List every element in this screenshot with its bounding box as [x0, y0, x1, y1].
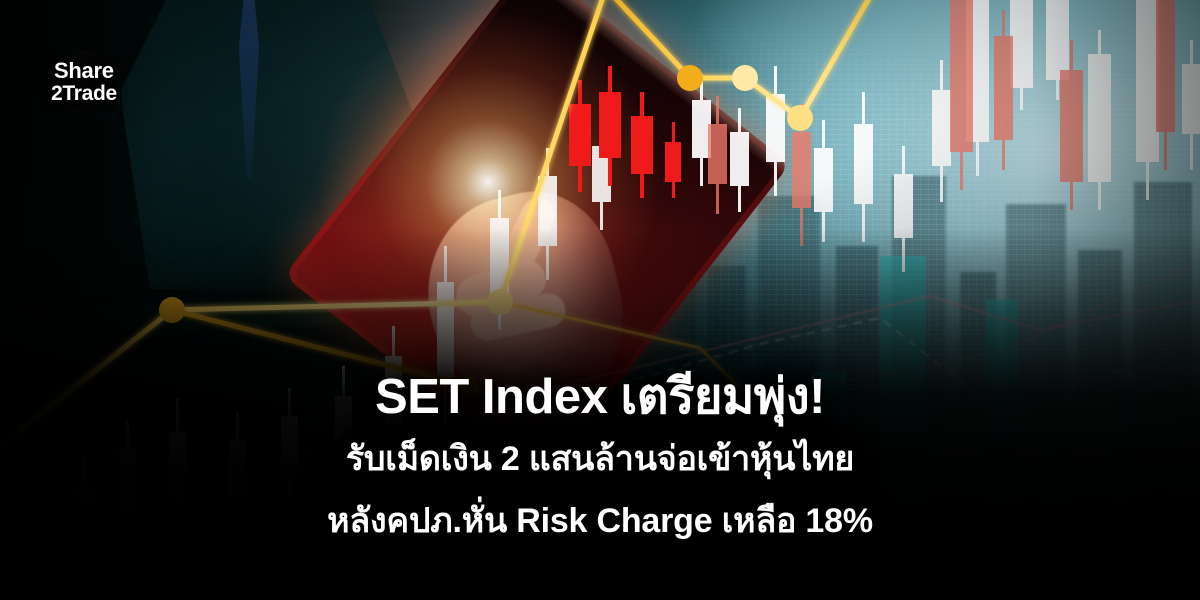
news-banner: Share 2Trade SET Index เตรียมพุ่ง! รับเม… — [0, 0, 1200, 600]
headline-line-1: SET Index เตรียมพุ่ง! — [0, 372, 1200, 424]
headline-line-3: หลังคปภ.หั่น Risk Charge เหลือ 18% — [0, 502, 1200, 540]
gold-trend-nodes — [159, 65, 813, 396]
candlestick-group-red — [569, 66, 681, 198]
share2trade-logo[interactable]: Share 2Trade — [50, 50, 114, 114]
headline-line-2: รับเม็ดเงิน 2 แสนล้านจ่อเข้าหุ้นไทย — [0, 440, 1200, 478]
headline-block: SET Index เตรียมพุ่ง! รับเม็ดเงิน 2 แสนล… — [0, 372, 1200, 540]
candlestick-group-white-right — [692, 0, 1200, 272]
logo-line-1: Share — [54, 60, 114, 82]
logo-line-2: 2Trade — [51, 83, 117, 104]
